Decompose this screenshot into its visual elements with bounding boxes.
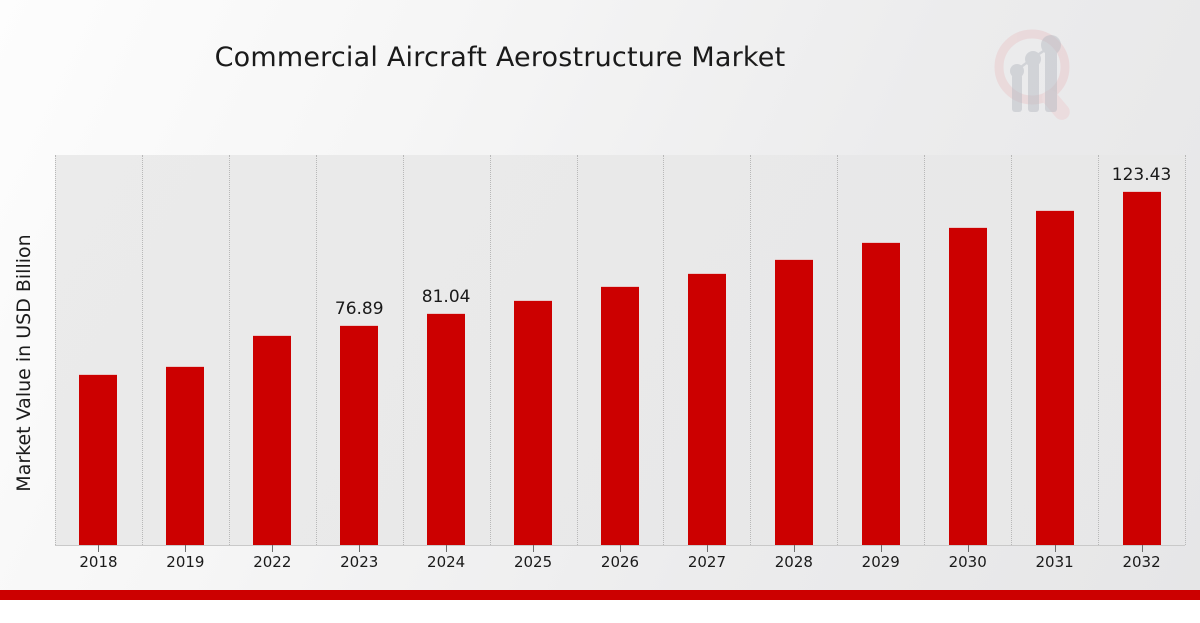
x-axis-tick-label-2023: 2023: [340, 553, 378, 571]
bar-2025[interactable]: [514, 300, 552, 545]
bar-group: [490, 155, 577, 545]
x-axis-tick-label-2026: 2026: [601, 553, 639, 571]
x-axis-tick: [881, 545, 882, 552]
bar-group: 76.89: [316, 155, 403, 545]
bar-value-label-2032: 123.43: [1112, 165, 1171, 185]
bar-2018[interactable]: [79, 374, 117, 545]
footer-accent-bar: [0, 590, 1200, 600]
x-axis-tick: [1055, 545, 1056, 552]
bar-group: [577, 155, 664, 545]
bar-group: [55, 155, 142, 545]
bar-2022[interactable]: [253, 335, 291, 545]
x-axis-tick-label-2018: 2018: [79, 553, 117, 571]
x-axis-tick-label-2019: 2019: [166, 553, 204, 571]
bar-2027[interactable]: [688, 273, 726, 545]
bar-2032[interactable]: [1123, 191, 1161, 545]
bar-2031[interactable]: [1036, 210, 1074, 545]
bar-2028[interactable]: [775, 259, 813, 545]
x-axis-tick: [533, 545, 534, 552]
x-axis-tick-label-2030: 2030: [949, 553, 987, 571]
page-title: Commercial Aircraft Aerostructure Market: [0, 42, 1000, 73]
bar-group: [1011, 155, 1098, 545]
bar-2029[interactable]: [862, 242, 900, 545]
x-axis-tick: [1142, 545, 1143, 552]
x-axis-tick-label-2024: 2024: [427, 553, 465, 571]
x-axis-tick: [968, 545, 969, 552]
chart-figure: Commercial Aircraft Aerostructure Market…: [0, 0, 1200, 600]
bar-group: 81.04: [403, 155, 490, 545]
x-axis-tick-label-2025: 2025: [514, 553, 552, 571]
x-axis-tick-label-2029: 2029: [862, 553, 900, 571]
x-axis-tick-label-2031: 2031: [1036, 553, 1074, 571]
bar-value-label-2023: 76.89: [335, 299, 384, 319]
x-axis-tick: [272, 545, 273, 552]
x-axis-tick: [185, 545, 186, 552]
x-axis-tick-label-2028: 2028: [775, 553, 813, 571]
x-axis-tick: [446, 545, 447, 552]
bar-2023[interactable]: [340, 325, 378, 545]
bar-value-label-2024: 81.04: [422, 287, 471, 307]
bar-2019[interactable]: [166, 366, 204, 546]
market-research-magnifier-logo: [985, 22, 1085, 127]
x-axis-tick: [98, 545, 99, 552]
x-axis-tick: [359, 545, 360, 552]
bar-2026[interactable]: [601, 286, 639, 545]
bar-group: [837, 155, 924, 545]
x-axis-tick-label-2032: 2032: [1122, 553, 1160, 571]
x-axis-tick: [794, 545, 795, 552]
x-axis-tick-label-2022: 2022: [253, 553, 291, 571]
x-axis-tick: [620, 545, 621, 552]
x-axis-tick: [707, 545, 708, 552]
x-axis-tick-label-2027: 2027: [688, 553, 726, 571]
bar-group: [142, 155, 229, 545]
bar-group: [924, 155, 1011, 545]
bar-2030[interactable]: [949, 227, 987, 545]
bar-group: [229, 155, 316, 545]
bar-2024[interactable]: [427, 313, 465, 545]
gridline: [1185, 155, 1187, 545]
bar-group: [750, 155, 837, 545]
bar-group: 123.43: [1098, 155, 1185, 545]
y-axis-title: Market Value in USD Billion: [13, 103, 35, 623]
bar-group: [663, 155, 750, 545]
